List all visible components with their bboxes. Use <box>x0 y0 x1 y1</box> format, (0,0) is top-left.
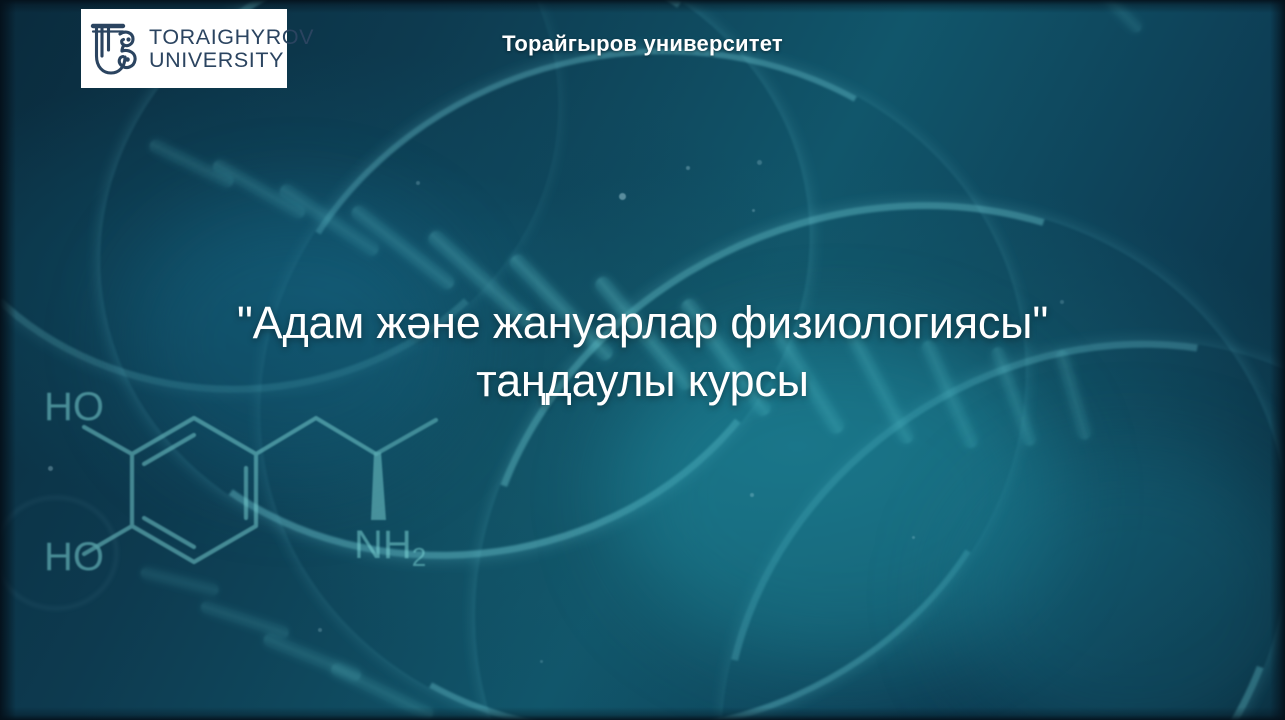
main-title-line1: "Адам және жануарлар физиологиясы" <box>0 294 1285 352</box>
bokeh-particle <box>686 166 690 170</box>
bokeh-particle <box>619 193 626 200</box>
bokeh-particle <box>750 493 754 497</box>
molecule-label-nh2: NH2 <box>354 523 426 572</box>
main-title-line2: таңдаулы курсы <box>0 352 1285 410</box>
bokeh-particle <box>912 536 915 539</box>
bokeh-particle <box>752 209 755 212</box>
header-university-name: Торайгыров университет <box>0 31 1285 57</box>
bokeh-particle <box>540 660 543 663</box>
dopamine-molecule-graphic: HO HO NH2 <box>44 372 604 632</box>
presentation-slide: HO HO NH2 <box>0 0 1285 720</box>
bokeh-particle <box>757 160 762 165</box>
slide-main-title: "Адам және жануарлар физиологиясы" таңда… <box>0 294 1285 409</box>
bokeh-particle <box>416 181 420 185</box>
